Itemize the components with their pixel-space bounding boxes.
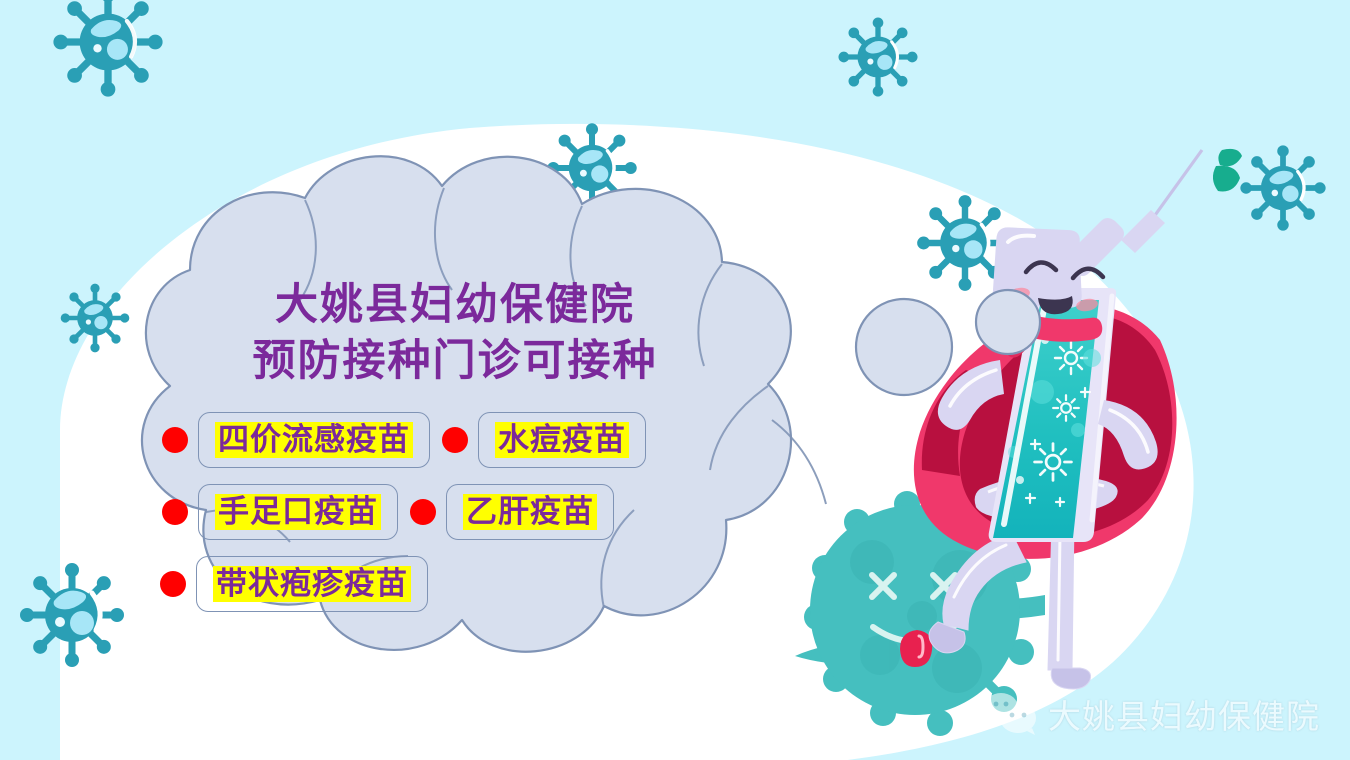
- poster-canvas: 大姚县妇幼保健院 预防接种门诊可接种 四价流感疫苗 水痘疫苗 手足口疫苗: [0, 0, 1350, 760]
- vaccine-chip-quadrivalent-influenza[interactable]: 四价流感疫苗: [198, 412, 430, 468]
- bullet-dot-icon: [162, 427, 188, 453]
- vaccine-list: 四价流感疫苗 水痘疫苗 手足口疫苗 乙肝疫苗: [150, 412, 760, 612]
- cloud-text-block: 大姚县妇幼保健院 预防接种门诊可接种 四价流感疫苗 水痘疫苗 手足口疫苗: [150, 278, 760, 628]
- vaccine-label: 乙肝疫苗: [463, 494, 597, 530]
- vaccine-chip-hfmd[interactable]: 手足口疫苗: [198, 484, 398, 540]
- bullet-dot-icon: [162, 499, 188, 525]
- vaccine-row: 带状疱疹疫苗: [150, 556, 760, 612]
- wechat-icon: [982, 692, 1038, 736]
- bullet-dot-icon: [410, 499, 436, 525]
- vaccine-chip-varicella[interactable]: 水痘疫苗: [478, 412, 646, 468]
- vaccine-label: 带状疱疹疫苗: [213, 566, 411, 602]
- vaccine-chip-hepatitis-b[interactable]: 乙肝疫苗: [446, 484, 614, 540]
- vaccine-label: 手足口疫苗: [215, 494, 381, 530]
- bullet-dot-icon: [160, 571, 186, 597]
- page-title-line-1: 大姚县妇幼保健院: [150, 278, 760, 334]
- tongue: [900, 630, 932, 667]
- vaccine-chip-herpes-zoster[interactable]: 带状疱疹疫苗: [196, 556, 428, 612]
- page-title-line-2: 预防接种门诊可接种: [150, 334, 760, 390]
- vaccine-row: 手足口疫苗 乙肝疫苗: [150, 484, 760, 540]
- vaccine-row: 四价流感疫苗 水痘疫苗: [150, 412, 760, 468]
- vaccine-label: 四价流感疫苗: [215, 422, 413, 458]
- watermark-text: 大姚县妇幼保健院: [1048, 690, 1320, 738]
- watermark: 大姚县妇幼保健院: [982, 690, 1320, 738]
- bullet-dot-icon: [442, 427, 468, 453]
- vaccine-label: 水痘疫苗: [495, 422, 629, 458]
- thought-bubble-large: [856, 299, 952, 395]
- thought-bubble-small: [976, 290, 1040, 354]
